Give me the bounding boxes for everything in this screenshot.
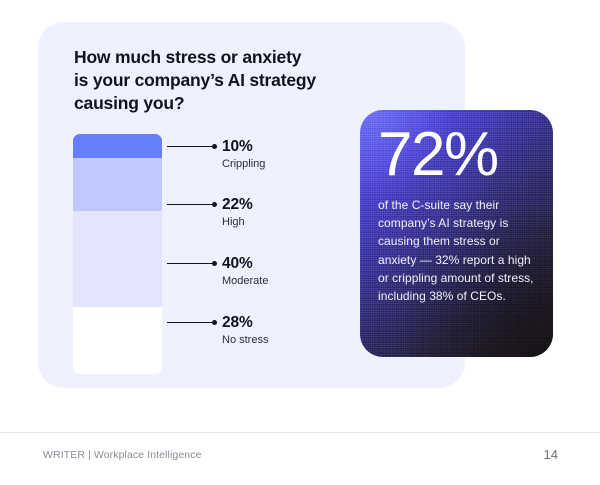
callout-percent: 10% bbox=[222, 138, 265, 155]
callout-crippling: 10% Crippling bbox=[222, 138, 265, 170]
page-number: 14 bbox=[544, 447, 558, 462]
callout-moderate: 40% Moderate bbox=[222, 255, 268, 287]
bar-segment-no-stress bbox=[73, 307, 162, 374]
callout-label: No stress bbox=[222, 334, 268, 346]
bar-segment-high bbox=[73, 158, 162, 211]
callout-percent: 22% bbox=[222, 196, 253, 213]
leader-line-crippling bbox=[167, 146, 215, 147]
stat-card-content: 72% of the C-suite say their company’s A… bbox=[360, 110, 553, 357]
stat-headline-percent: 72% bbox=[378, 124, 535, 186]
callout-percent: 28% bbox=[222, 314, 268, 331]
callout-high: 22% High bbox=[222, 196, 253, 228]
stacked-bar-chart bbox=[73, 134, 162, 374]
callout-label: Moderate bbox=[222, 275, 268, 287]
page-title: How much stress or anxiety is your compa… bbox=[74, 46, 364, 115]
callout-percent: 40% bbox=[222, 255, 268, 272]
leader-line-high bbox=[167, 204, 215, 205]
callout-no-stress: 28% No stress bbox=[222, 314, 268, 346]
leader-line-no-stress bbox=[167, 322, 215, 323]
bar-segment-moderate bbox=[73, 211, 162, 307]
leader-line-moderate bbox=[167, 263, 215, 264]
callout-label: High bbox=[222, 216, 253, 228]
footer-source: WRITER | Workplace Intelligence bbox=[43, 449, 202, 461]
bar-segment-crippling bbox=[73, 134, 162, 158]
stat-highlight-card: 72% of the C-suite say their company’s A… bbox=[360, 110, 553, 357]
callout-label: Crippling bbox=[222, 158, 265, 170]
stat-body-text: of the C-suite say their company’s AI st… bbox=[378, 196, 535, 305]
footer-divider bbox=[0, 432, 600, 433]
